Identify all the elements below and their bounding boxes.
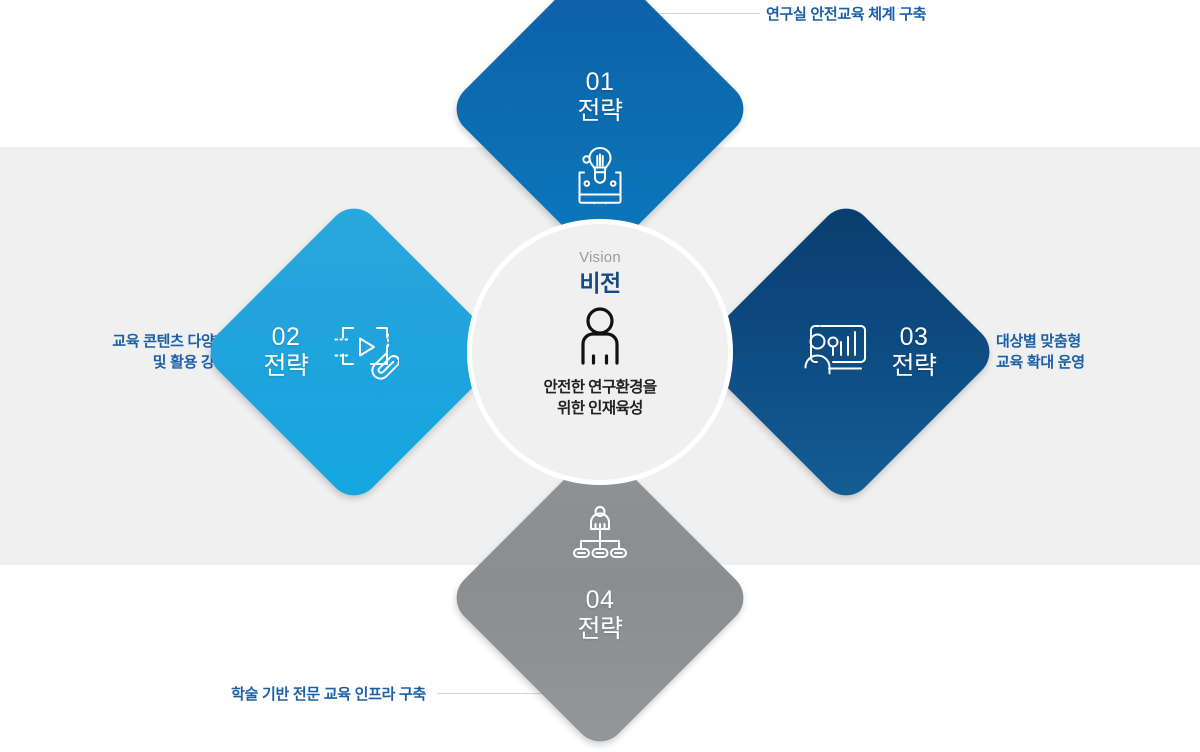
person-icon	[572, 306, 628, 371]
strategy-label-top: 연구실 안전교육 체계 구축	[766, 4, 926, 25]
strategy-label-left-line2: 및 활용 강화	[20, 352, 228, 373]
vision-description-line2: 위한 인재육성	[544, 398, 657, 419]
vision-eyebrow: Vision	[579, 248, 621, 267]
vision-description: 안전한 연구환경을 위한 인재육성	[544, 377, 657, 419]
strategy-label-right-line2: 교육 확대 운영	[996, 352, 1196, 373]
strategy-label-top-line1: 연구실 안전교육 체계 구축	[766, 4, 926, 25]
strategy-label-bottom-line1: 학술 기반 전문 교육 인프라 구축	[150, 684, 426, 705]
strategy-label-right: 대상별 맞춤형 교육 확대 운영	[996, 331, 1196, 373]
vision-strategy-diagram: 연구실 안전교육 체계 구축 교육 콘텐츠 다양화 및 활용 강화 대상별 맞춤…	[0, 0, 1200, 708]
strategy-card-04[interactable]: 04 전략	[446, 444, 754, 752]
vision-title: 비전	[579, 268, 620, 298]
strategy-card-04-shape	[446, 444, 754, 752]
strategy-label-left-line1: 교육 콘텐츠 다양화	[20, 331, 228, 352]
vision-description-line1: 안전한 연구환경을	[544, 377, 657, 398]
strategy-label-right-line1: 대상별 맞춤형	[996, 331, 1196, 352]
strategy-label-bottom: 학술 기반 전문 교육 인프라 구축	[150, 684, 426, 705]
vision-circle[interactable]: Vision 비전 안전한 연구환경을 위한 인재육성	[472, 224, 728, 480]
strategy-label-left: 교육 콘텐츠 다양화 및 활용 강화	[20, 331, 228, 373]
